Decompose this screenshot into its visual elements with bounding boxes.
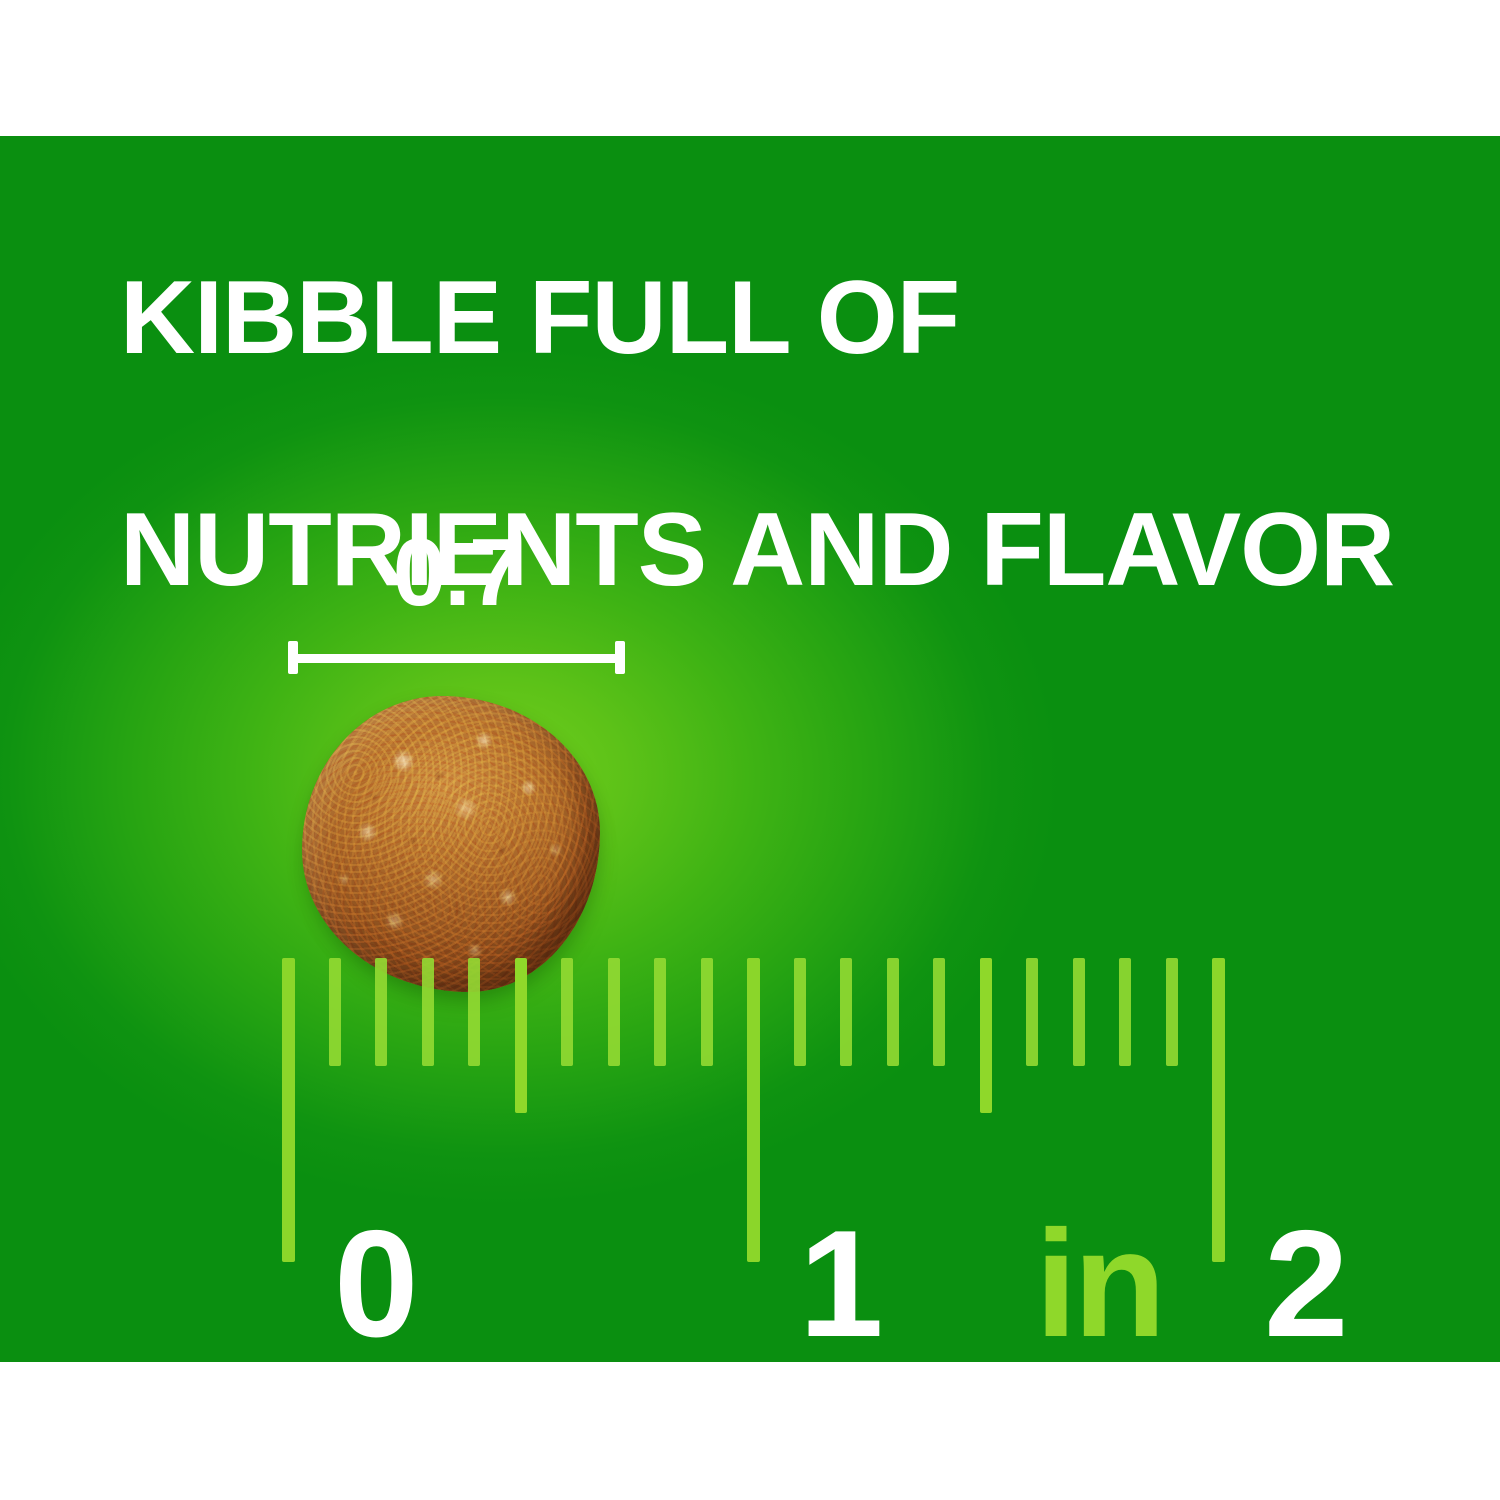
ruler-tick-minor <box>1026 958 1038 1066</box>
ruler-label-2: 2 <box>1264 1208 1346 1360</box>
ruler-tick-minor <box>422 958 434 1066</box>
ruler-tick-major <box>747 958 760 1262</box>
ruler-tick-minor <box>1166 958 1178 1066</box>
ruler-tick-minor <box>933 958 945 1066</box>
ruler-tick-minor <box>1073 958 1085 1066</box>
ruler-tick-minor <box>329 958 341 1066</box>
ruler-tick-minor <box>375 958 387 1066</box>
ruler-tick-minor <box>561 958 573 1066</box>
green-background-panel: KIBBLE FULL OF NUTRIENTS AND FLAVOR 0.7 … <box>0 136 1500 1362</box>
ruler-tick-major <box>1212 958 1225 1262</box>
ruler-tick-minor <box>654 958 666 1066</box>
ruler-tick-minor <box>608 958 620 1066</box>
ruler-tick-minor <box>794 958 806 1066</box>
ruler-unit-label: in <box>1035 1208 1162 1360</box>
ruler-tick-major <box>282 958 295 1262</box>
ruler-scale: 012in <box>0 136 1500 1362</box>
ruler-tick-half <box>515 958 527 1113</box>
ruler-label-0: 0 <box>334 1208 416 1360</box>
ruler-label-1: 1 <box>799 1208 881 1360</box>
ruler-tick-minor <box>1119 958 1131 1066</box>
ruler-tick-minor <box>887 958 899 1066</box>
ruler-tick-minor <box>468 958 480 1066</box>
ruler-tick-half <box>980 958 992 1113</box>
product-feature-image: KIBBLE FULL OF NUTRIENTS AND FLAVOR 0.7 … <box>0 0 1500 1500</box>
ruler-tick-minor <box>840 958 852 1066</box>
ruler-tick-minor <box>701 958 713 1066</box>
